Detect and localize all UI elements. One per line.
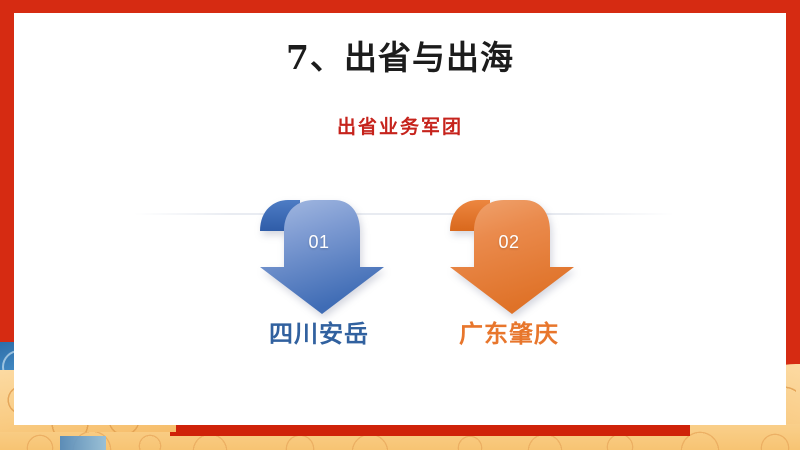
- item-label-01[interactable]: 四川安岳: [229, 314, 409, 349]
- item-group-01[interactable]: 01 四川安岳: [244, 192, 394, 352]
- item-group-02[interactable]: 02 广东肇庆: [434, 192, 584, 352]
- slide-root: 7、出省与出海 出省业务军团: [0, 0, 800, 450]
- slide-content-page: 7、出省与出海 出省业务军团: [14, 13, 786, 425]
- down-arrow-ribbon-icon: [434, 192, 584, 317]
- horizontal-divider: [134, 213, 674, 215]
- down-arrow-ribbon-icon: [244, 192, 394, 317]
- arrow-shape-02[interactable]: 02: [434, 192, 584, 317]
- blue-base-decoration: [60, 436, 106, 450]
- page-title: 7、出省与出海: [14, 31, 786, 79]
- arrow-shape-01[interactable]: 01: [244, 192, 394, 317]
- item-label-02[interactable]: 广东肇庆: [419, 314, 599, 349]
- page-subtitle: 出省业务军团: [14, 112, 786, 139]
- red-accent-strip: [170, 424, 690, 436]
